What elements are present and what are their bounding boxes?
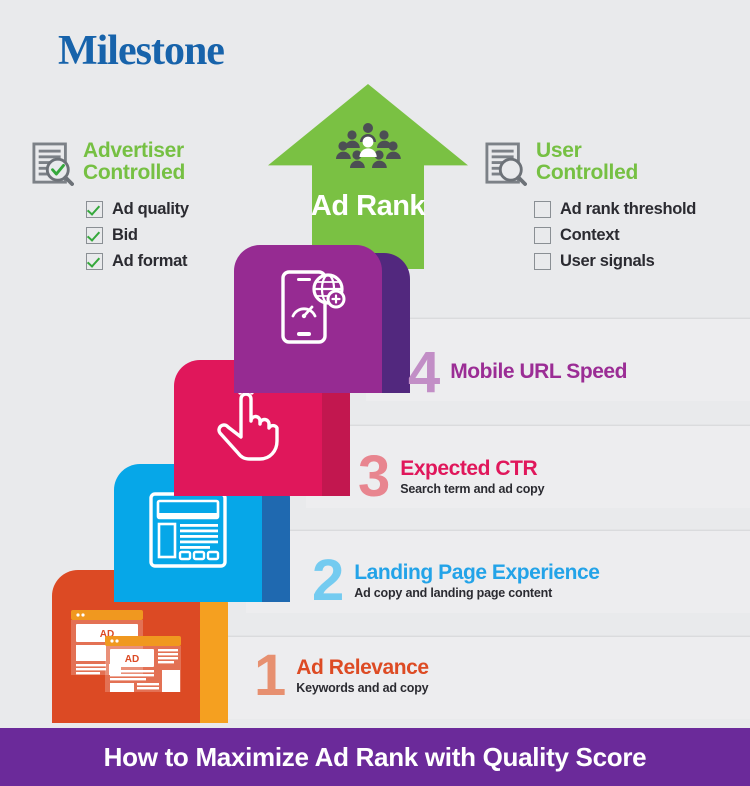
step-2-title: Landing Page Experience [354,561,599,584]
checkbox-ad-rank-threshold[interactable] [534,201,551,218]
mobile-speed-globe-icon [274,269,348,345]
arrow-shape [268,84,468,269]
checkbox-user-signals[interactable] [534,253,551,270]
user-controlled-header: User Controlled [485,140,638,186]
checkbox-ad-format[interactable] [86,253,103,270]
ad-rank-arrow: Ad Rank [268,84,468,269]
infographic-canvas: Milestone AD AD [0,0,750,786]
advertiser-controlled-header: Advertiser Controlled [32,140,185,186]
step-1-subtitle: Keywords and ad copy [296,681,428,695]
step-4-text: 4 Mobile URL Speed [408,348,627,397]
ad-rank-label: Ad Rank [268,190,468,223]
checkbox-row-bid[interactable]: Bid [86,222,189,248]
checkbox-label-ad-quality: Ad quality [112,200,189,219]
step-3-title: Expected CTR [400,457,544,480]
step-4-title: Mobile URL Speed [450,360,627,383]
checkbox-bid[interactable] [86,227,103,244]
bottom-banner: How to Maximize Ad Rank with Quality Sco… [0,728,750,786]
banner-title: How to Maximize Ad Rank with Quality Sco… [104,742,647,773]
step-1-number: 1 [254,651,284,700]
checkbox-label-user-signals: User signals [560,252,655,271]
document-magnifier-icon [485,142,527,186]
checkbox-label-bid: Bid [112,226,138,245]
step-3-text: 3 Expected CTR Search term and ad copy [358,452,544,501]
step-4-number: 4 [408,348,438,397]
step-1-text: 1 Ad Relevance Keywords and ad copy [254,651,429,700]
people-group-icon [335,122,401,172]
user-controlled-title: User Controlled [536,140,638,184]
checkbox-row-ad-quality[interactable]: Ad quality [86,196,189,222]
checkbox-label-ad-rank-threshold: Ad rank threshold [560,200,696,219]
step-3-number: 3 [358,452,388,501]
advertiser-controlled-list: Ad quality Bid Ad format [86,196,189,274]
advertiser-controlled-title: Advertiser Controlled [83,140,185,184]
checkbox-row-user-signals[interactable]: User signals [534,248,696,274]
step-4-card[interactable] [234,245,382,393]
step-3-subtitle: Search term and ad copy [400,482,544,496]
checkbox-label-ad-format: Ad format [112,252,187,271]
step-2-text: 2 Landing Page Experience Ad copy and la… [312,556,600,605]
step-2-subtitle: Ad copy and landing page content [354,586,599,600]
click-hand-icon [216,385,282,465]
checkbox-row-ad-format[interactable]: Ad format [86,248,189,274]
checkbox-context[interactable] [534,227,551,244]
checkbox-ad-quality[interactable] [86,201,103,218]
milestone-logo: Milestone [58,30,224,72]
user-controlled-list: Ad rank threshold Context User signals [534,196,696,274]
checkbox-label-context: Context [560,226,619,245]
svg-text:AD: AD [125,654,139,665]
landing-page-wireframe-icon [149,492,227,568]
document-magnifier-check-icon [32,142,74,186]
checkbox-row-ad-rank-threshold[interactable]: Ad rank threshold [534,196,696,222]
checkbox-row-context[interactable]: Context [534,222,696,248]
step-1-title: Ad Relevance [296,656,428,679]
ad-browser-windows-icon: AD AD [69,608,183,694]
step-2-number: 2 [312,556,342,605]
